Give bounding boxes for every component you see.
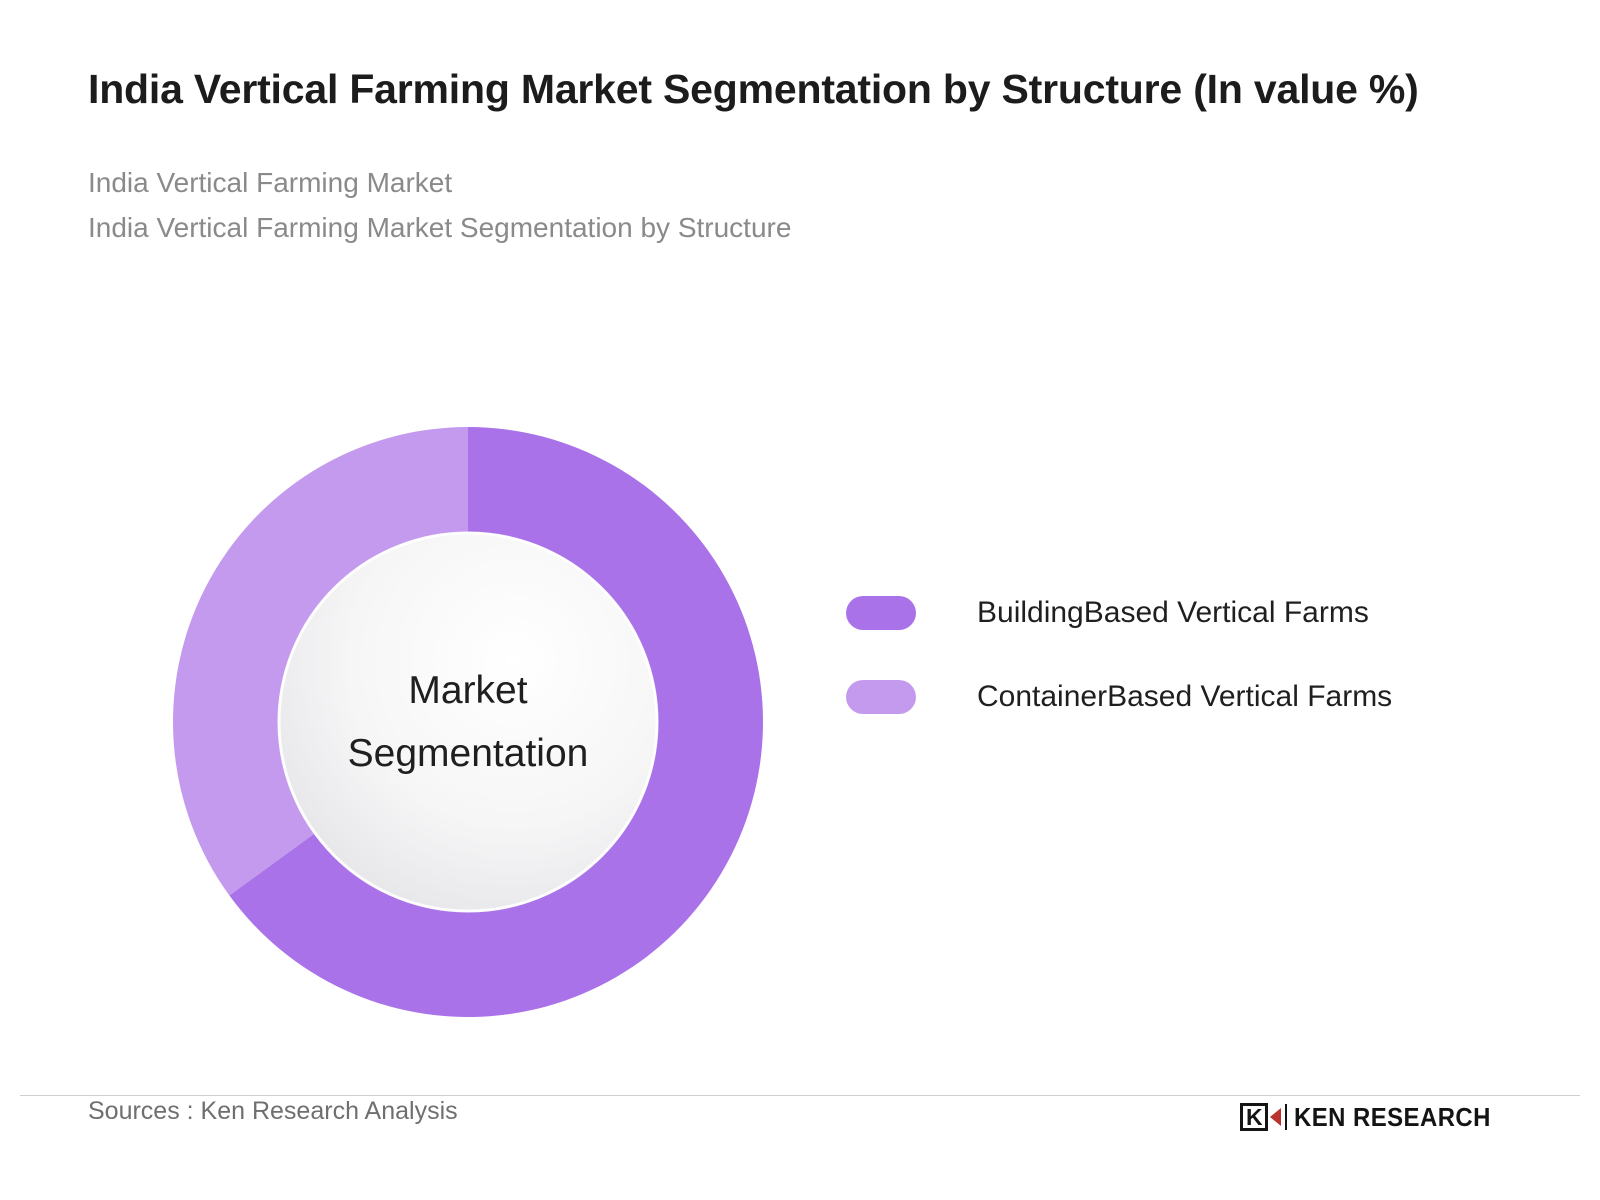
logo-k-mark-icon: K — [1240, 1103, 1268, 1131]
ken-research-logo: K KEN RESEARCH — [1240, 1100, 1508, 1134]
logo-divider-icon — [1285, 1104, 1287, 1130]
page-title: India Vertical Farming Market Segmentati… — [88, 62, 1508, 116]
subtitle-line-2: India Vertical Farming Market Segmentati… — [88, 205, 1508, 250]
logo-wordmark: KEN RESEARCH — [1294, 1102, 1491, 1133]
subtitle-block: India Vertical Farming Market India Vert… — [88, 160, 1508, 251]
subtitle-line-1: India Vertical Farming Market — [88, 160, 1508, 205]
legend-label-container-based: ContainerBased Vertical Farms — [977, 680, 1392, 714]
slide-canvas: India Vertical Farming Market Segmentati… — [0, 0, 1600, 1200]
footer-divider — [20, 1095, 1580, 1096]
legend-item-container-based[interactable]: ContainerBased Vertical Farms — [846, 669, 1486, 725]
legend-swatch-icon-building-based — [846, 596, 916, 630]
legend-swatch-icon-container-based — [846, 680, 916, 714]
donut-chart: Market Segmentation — [173, 427, 763, 1017]
header: India Vertical Farming Market Segmentati… — [88, 62, 1508, 251]
legend-item-building-based[interactable]: BuildingBased Vertical Farms — [846, 585, 1486, 641]
donut-chart-svg — [173, 427, 763, 1017]
logo-triangle-icon — [1270, 1108, 1281, 1126]
legend-label-building-based: BuildingBased Vertical Farms — [977, 596, 1369, 630]
sources-text: Sources : Ken Research Analysis — [88, 1097, 458, 1126]
chart-legend: BuildingBased Vertical Farms ContainerBa… — [846, 585, 1486, 753]
logo-k-letter: K — [1246, 1103, 1263, 1131]
